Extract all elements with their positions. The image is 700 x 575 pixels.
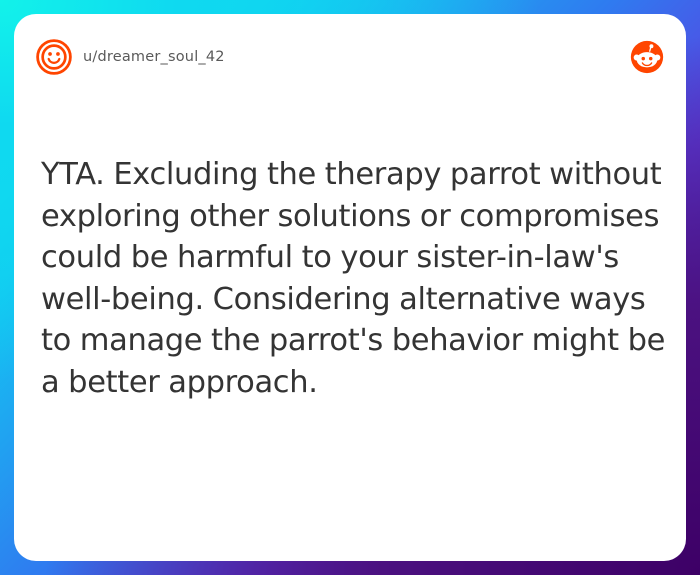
reddit-snoo-logo-icon[interactable] xyxy=(630,40,664,74)
gradient-background: u/dreamer_soul_42 YTA. Excluding the the… xyxy=(0,0,700,575)
post-author-block[interactable]: u/dreamer_soul_42 xyxy=(36,39,630,75)
smiley-face-avatar-icon xyxy=(36,39,72,75)
post-header: u/dreamer_soul_42 xyxy=(14,14,686,100)
reddit-post-card: u/dreamer_soul_42 YTA. Excluding the the… xyxy=(14,14,686,561)
post-body-text: YTA. Excluding the therapy parrot withou… xyxy=(41,154,672,404)
post-author-name: u/dreamer_soul_42 xyxy=(83,49,225,65)
